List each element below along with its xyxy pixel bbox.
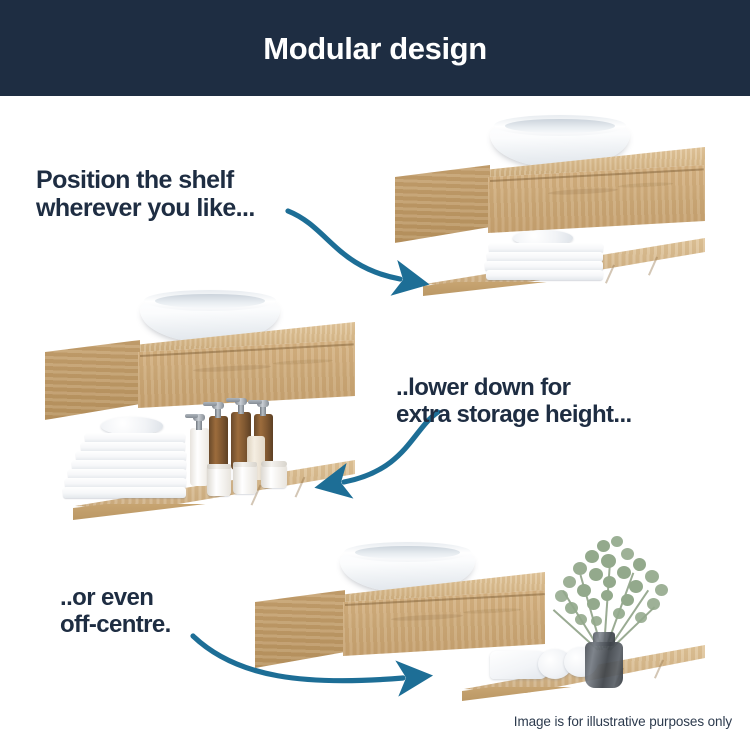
page-title: Modular design [263,33,486,64]
towel-layer [63,487,186,498]
folded-white-towels [485,230,605,282]
arrow-3 [185,630,445,700]
cosmetic-jar [207,466,231,496]
folded-white-towels [63,417,188,503]
caption-lower-down: ..lower down for extra storage height... [396,375,632,429]
header-banner: Modular design [0,0,750,96]
towel-layer [486,270,603,280]
vanity-unit-shelf-low [45,290,355,525]
arrow-1 [280,205,440,315]
shelf-front-edge [462,687,705,703]
cosmetic-jar [261,464,287,488]
cabinet-side-face [45,340,140,422]
caption-position-shelf: Position the shelf wherever you like... [36,166,255,222]
amber-soap-dispensers [185,394,295,502]
basin-inner-bowl [505,119,614,133]
cabinet-box [395,147,705,237]
promo-image: Modular design [0,0,750,750]
caption-off-centre: ..or even off-centre. [60,585,171,639]
eucalyptus-plant-in-grey-vase [535,528,705,688]
disclaimer-text: Image is for illustrative purposes only [514,714,732,729]
basin-inner-bowl [355,546,460,560]
cabinet-front-drawer [488,165,705,239]
cosmetic-jar [233,464,257,494]
vanity-unit-shelf-high [395,110,705,310]
shelf-front-edge [423,282,705,298]
grey-glass-vase [585,642,623,688]
basin-inner-bowl [155,294,264,308]
